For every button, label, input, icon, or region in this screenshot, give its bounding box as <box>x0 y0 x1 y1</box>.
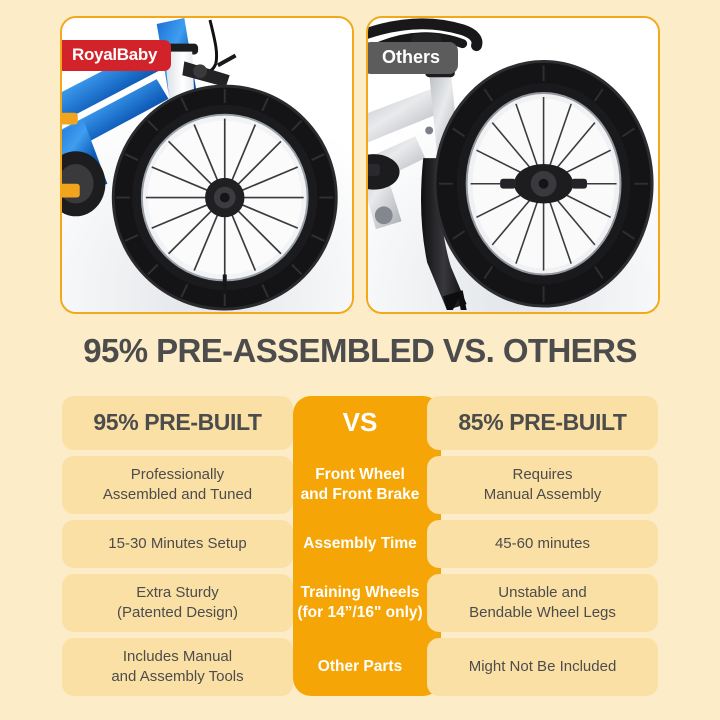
cell-others-assembly-time: 45-60 minutes <box>427 520 658 568</box>
header-cell-vs: VS <box>293 396 427 450</box>
table-row: Extra Sturdy(Patented Design) Training W… <box>62 574 658 632</box>
cell-feature-other-parts: Other Parts <box>293 638 427 696</box>
header-cell-royalbaby: 95% PRE-BUILT <box>62 396 293 450</box>
cell-royalbaby-assembly-time: 15-30 Minutes Setup <box>62 520 293 568</box>
photo-frame-others[interactable]: Others <box>366 16 660 314</box>
cell-royalbaby-front-wheel: ProfessionallyAssembled and Tuned <box>62 456 293 514</box>
cell-others-training-wheels: Unstable andBendable Wheel Legs <box>427 574 658 632</box>
comparison-photos: RoyalBaby <box>60 16 660 314</box>
royalbaby-brand-badge: RoyalBaby <box>60 40 171 71</box>
table-row: ProfessionallyAssembled and Tuned Front … <box>62 456 658 514</box>
cell-others-other-parts: Might Not Be Included <box>427 638 658 696</box>
photo-frame-royalbaby[interactable]: RoyalBaby <box>60 16 354 314</box>
table-header-row: 95% PRE-BUILT VS 85% PRE-BUILT <box>62 396 658 450</box>
comparison-table: 95% PRE-BUILT VS 85% PRE-BUILT Professio… <box>62 396 658 696</box>
table-row: 15-30 Minutes Setup Assembly Time 45-60 … <box>62 520 658 568</box>
cell-feature-front-wheel: Front Wheeland Front Brake <box>293 456 427 514</box>
comparison-rows: 95% PRE-BUILT VS 85% PRE-BUILT Professio… <box>62 396 658 696</box>
header-cell-others: 85% PRE-BUILT <box>427 396 658 450</box>
cell-feature-assembly-time: Assembly Time <box>293 520 427 568</box>
table-row: Includes Manualand Assembly Tools Other … <box>62 638 658 696</box>
cell-royalbaby-training-wheels: Extra Sturdy(Patented Design) <box>62 574 293 632</box>
cell-others-front-wheel: RequiresManual Assembly <box>427 456 658 514</box>
page-title: 95% PRE-ASSEMBLED VS. OTHERS <box>0 332 720 370</box>
others-brand-badge: Others <box>366 42 458 74</box>
cell-feature-training-wheels: Training Wheels(for 14”/16" only) <box>293 574 427 632</box>
cell-royalbaby-other-parts: Includes Manualand Assembly Tools <box>62 638 293 696</box>
